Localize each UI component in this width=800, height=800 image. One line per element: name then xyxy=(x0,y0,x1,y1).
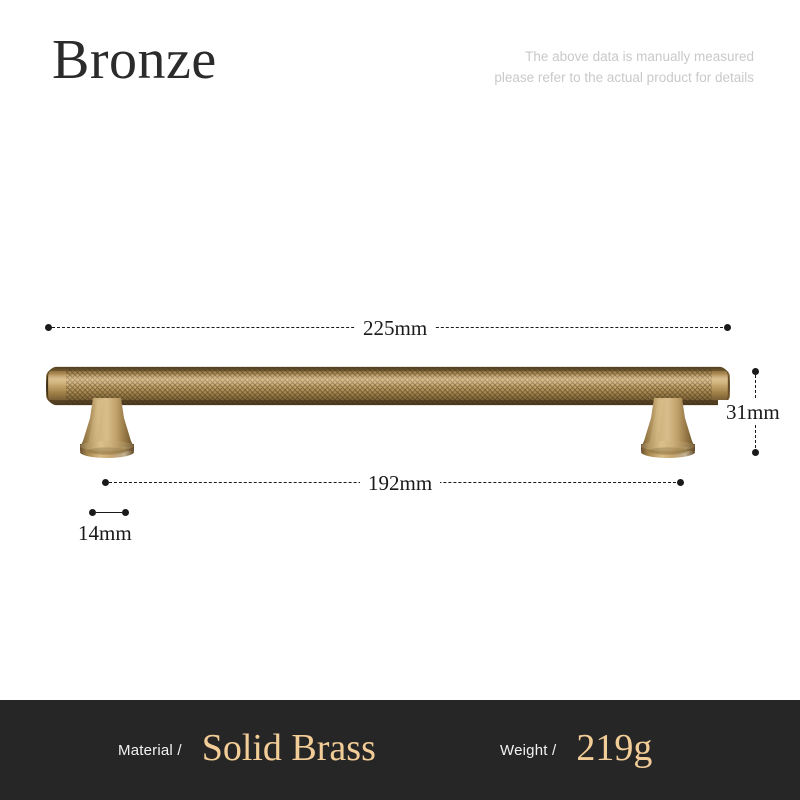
spec-material-label: Material / xyxy=(118,742,182,759)
handle-right-end-cap xyxy=(704,369,730,403)
product-spec-image: Bronze The above data is manually measur… xyxy=(0,0,800,800)
disclaimer-line-2: please refer to the actual product for d… xyxy=(494,67,754,88)
dimension-dot-bottom xyxy=(752,449,759,456)
disclaimer-note: The above data is manually measured plea… xyxy=(494,46,754,88)
dimension-label-projection-height: 31mm xyxy=(718,400,788,425)
spec-weight: Weight / 219g xyxy=(500,700,652,800)
dimension-dot-left xyxy=(45,324,52,331)
dimension-dot-right xyxy=(122,509,129,516)
handle-knurled-bar xyxy=(48,367,728,405)
spec-weight-value: 219g xyxy=(576,729,652,767)
spec-bar: Material / Solid Brass Weight / 219g xyxy=(0,700,800,800)
page-title: Bronze xyxy=(52,32,217,88)
dimension-dot-top xyxy=(752,368,759,375)
dimension-label-bar-diameter: 14mm xyxy=(70,521,140,546)
dimension-line xyxy=(96,512,122,513)
handle-left-foot xyxy=(80,398,134,458)
spec-material: Material / Solid Brass xyxy=(118,700,376,800)
spec-weight-label: Weight / xyxy=(500,742,556,759)
handle-right-foot xyxy=(641,398,695,458)
dimension-dot-left xyxy=(89,509,96,516)
dimension-label-center-to-center: 192mm xyxy=(360,471,440,496)
dimension-label-overall-length: 225mm xyxy=(355,316,435,341)
spec-material-value: Solid Brass xyxy=(202,729,376,767)
disclaimer-line-1: The above data is manually measured xyxy=(494,46,754,67)
dimension-dot-right xyxy=(677,479,684,486)
dimension-dot-left xyxy=(102,479,109,486)
handle-left-end-cap xyxy=(46,369,72,403)
dimension-dot-right xyxy=(724,324,731,331)
